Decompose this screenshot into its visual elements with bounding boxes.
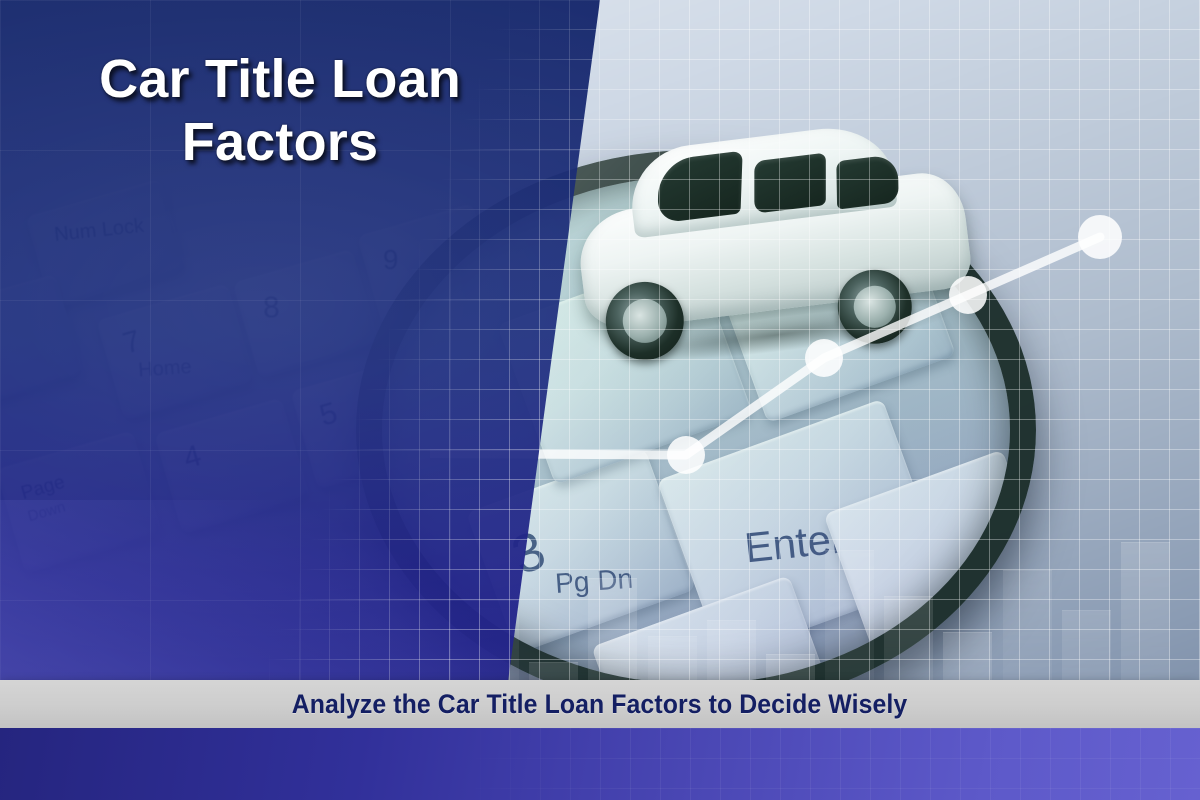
page-title: Car Title Loan Factors xyxy=(40,48,520,173)
hero-banner-graphic: Num Lock 7 Home 8 9 4 5 Page Down 3 xyxy=(0,0,1200,800)
title-line-1: Car Title Loan xyxy=(40,48,520,111)
title-line-2: Factors xyxy=(40,111,520,174)
bottom-banner: Analyze the Car Title Loan Factors to De… xyxy=(0,680,1200,728)
bottom-strip xyxy=(0,728,1200,800)
bottom-strip-texture xyxy=(0,728,1200,800)
banner-text: Analyze the Car Title Loan Factors to De… xyxy=(292,689,908,720)
